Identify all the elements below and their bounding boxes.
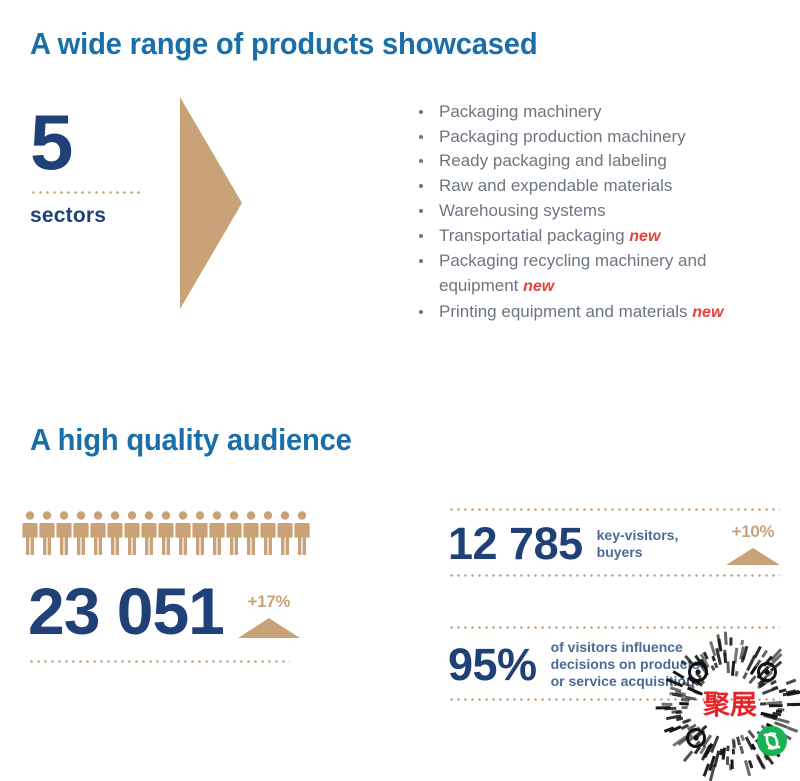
divider-dotted bbox=[448, 698, 780, 701]
stat-delta: +10% bbox=[726, 522, 780, 565]
new-badge: new bbox=[523, 278, 554, 295]
person-icon bbox=[107, 510, 123, 556]
person-icon bbox=[294, 510, 310, 556]
new-badge: new bbox=[629, 228, 660, 245]
triangle-up-icon bbox=[238, 618, 300, 638]
visitors-total-block: 23 051 +17% bbox=[28, 578, 328, 663]
person-icon bbox=[226, 510, 242, 556]
triangle-up-icon bbox=[726, 548, 780, 565]
stat-caption: of visitors influencedecisions on produc… bbox=[551, 639, 700, 690]
page-title-products: A wide range of products showcased bbox=[30, 26, 537, 62]
stat-card-influence: 95% of visitors influencedecisions on pr… bbox=[448, 626, 780, 701]
person-icon bbox=[141, 510, 157, 556]
person-icon bbox=[39, 510, 55, 556]
visitors-total-delta: +17% bbox=[238, 592, 300, 638]
chevron-right-icon bbox=[180, 97, 242, 309]
list-item: Raw and expendable materials bbox=[412, 174, 772, 199]
visitors-total-value: 23 051 bbox=[28, 578, 224, 644]
list-item: Ready packaging and labeling bbox=[412, 149, 772, 174]
person-icon bbox=[124, 510, 140, 556]
person-icon bbox=[22, 510, 38, 556]
person-icon bbox=[175, 510, 191, 556]
delta-label: +17% bbox=[247, 592, 290, 612]
person-icon bbox=[277, 510, 293, 556]
list-item-label: Packaging recycling machinery and equipm… bbox=[439, 251, 706, 295]
wechat-miniprogram-icon bbox=[757, 726, 787, 756]
person-icon bbox=[260, 510, 276, 556]
person-icon bbox=[158, 510, 174, 556]
person-icon bbox=[209, 510, 225, 556]
list-item: Printing equipment and materials new bbox=[412, 300, 772, 326]
stat-card-key-visitors: 12 785 key-visitors,buyers +10% bbox=[448, 508, 780, 577]
person-icon bbox=[192, 510, 208, 556]
list-item-label: Raw and expendable materials bbox=[439, 176, 672, 195]
list-item-label: Warehousing systems bbox=[439, 201, 606, 220]
stat-value: 12 785 bbox=[448, 521, 583, 566]
list-item: Warehousing systems bbox=[412, 199, 772, 224]
list-item: Packaging machinery bbox=[412, 100, 772, 125]
list-item-label: Transportatial packaging bbox=[439, 226, 625, 245]
divider-dotted bbox=[28, 660, 290, 663]
people-pictogram-row bbox=[22, 510, 310, 556]
list-item-label: Packaging production machinery bbox=[439, 127, 686, 146]
stat-caption: key-visitors,buyers bbox=[597, 527, 679, 561]
list-item-label: Printing equipment and materials bbox=[439, 302, 688, 321]
divider-dotted bbox=[30, 191, 142, 194]
list-item-label: Packaging machinery bbox=[439, 102, 602, 121]
list-item: Packaging production machinery bbox=[412, 125, 772, 150]
person-icon bbox=[90, 510, 106, 556]
delta-label: +10% bbox=[732, 522, 775, 542]
person-icon bbox=[56, 510, 72, 556]
list-item: Packaging recycling machinery and equipm… bbox=[412, 249, 772, 299]
page-title-audience: A high quality audience bbox=[30, 422, 352, 458]
divider-dotted bbox=[448, 574, 780, 577]
list-item-label: Ready packaging and labeling bbox=[439, 151, 667, 170]
new-badge: new bbox=[692, 304, 723, 321]
person-icon bbox=[73, 510, 89, 556]
product-category-list: Packaging machineryPackaging production … bbox=[412, 100, 772, 325]
stat-value: 95% bbox=[448, 642, 537, 687]
person-icon bbox=[243, 510, 259, 556]
list-item: Transportatial packaging new bbox=[412, 224, 772, 250]
